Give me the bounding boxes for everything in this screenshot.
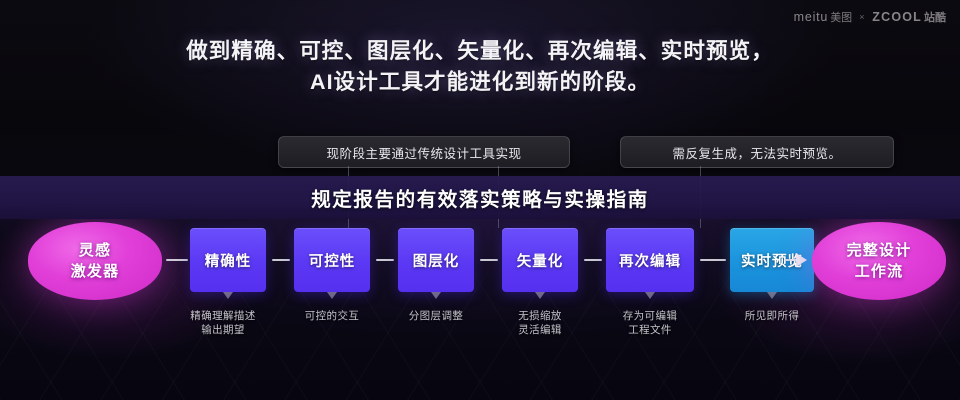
flow-connector-2 <box>376 259 394 261</box>
caption-overlay-band: 规定报告的有效落实策略与实操指南 <box>0 176 960 219</box>
flow-subcaption-3: 分图层调整 <box>390 309 482 323</box>
flow-tick-6 <box>767 292 777 299</box>
note-pill-left: 现阶段主要通过传统设计工具实现 <box>278 136 570 168</box>
flow-subcaption-4-line1: 无损缩放 <box>494 309 586 323</box>
flow-connector-6 <box>784 259 796 261</box>
headline-line-1: 做到精确、可控、图层化、矢量化、再次编辑、实时预览， <box>186 39 774 63</box>
slide-canvas: meitu 美图 × ZCOOL 站酷 做到精确、可控、图层化、矢量化、再次编辑… <box>0 0 960 400</box>
flow-node-end-line1: 完整设计 <box>847 240 912 261</box>
flow-subcaption-2-line1: 可控的交互 <box>286 309 378 323</box>
flow-connector-5 <box>700 259 726 261</box>
flow-node-step-5-label: 再次编辑 <box>619 250 681 271</box>
watermark-brand-meitu-latin: meitu <box>794 10 829 24</box>
flow-subcaption-3-line1: 分图层调整 <box>390 309 482 323</box>
flow-tick-4 <box>535 292 545 299</box>
note-pill-right: 需反复生成，无法实时预览。 <box>620 136 894 168</box>
flow-subcaption-4-line2: 灵活编辑 <box>494 323 586 337</box>
watermark-brand-zcool-latin: ZCOOL <box>872 10 922 24</box>
note-pill-left-label: 现阶段主要通过传统设计工具实现 <box>326 143 521 162</box>
flow-tick-3 <box>431 292 441 299</box>
note-pill-right-label: 需反复生成，无法实时预览。 <box>672 143 841 162</box>
flow-node-step-3-label: 图层化 <box>413 250 460 271</box>
flow-node-step-4: 矢量化 <box>502 228 578 292</box>
watermark-brand-zcool-cn: 站酷 <box>924 9 946 25</box>
flow-tick-5 <box>645 292 655 299</box>
flow-subcaption-6-line1: 所见即所得 <box>726 309 818 323</box>
flow-subcaption-5: 存为可编辑 工程文件 <box>604 309 696 337</box>
watermark: meitu 美图 × ZCOOL 站酷 <box>794 9 946 25</box>
flow-node-step-1-label: 精确性 <box>205 250 252 271</box>
flow-node-end: 完整设计 工作流 <box>812 222 946 300</box>
flow-connector-0 <box>166 259 188 261</box>
watermark-separator-icon: × <box>859 12 865 22</box>
caption-overlay-text: 规定报告的有效落实策略与实操指南 <box>311 183 649 212</box>
flow-node-start: 灵感 激发器 <box>28 222 162 300</box>
flow-node-step-1: 精确性 <box>190 228 266 292</box>
flow-connector-1 <box>272 259 290 261</box>
flow-node-step-3: 图层化 <box>398 228 474 292</box>
flow-node-step-5: 再次编辑 <box>606 228 694 292</box>
flow-subcaption-1-line2: 输出期望 <box>176 323 270 337</box>
background-upper <box>0 0 960 200</box>
flow-node-step-2: 可控性 <box>294 228 370 292</box>
flow-subcaption-1-line1: 精确理解描述 <box>176 309 270 323</box>
watermark-brand-meitu-cn: 美图 <box>830 9 852 25</box>
headline: 做到精确、可控、图层化、矢量化、再次编辑、实时预览， AI设计工具才能进化到新的… <box>0 36 960 98</box>
watermark-brand-meitu: meitu 美图 <box>794 9 853 25</box>
flow-connector-4 <box>584 259 602 261</box>
flow-node-end-line2: 工作流 <box>855 261 904 282</box>
flow-node-start-line2: 激发器 <box>71 261 120 282</box>
flow-subcaption-4: 无损缩放 灵活编辑 <box>494 309 586 337</box>
flow-connector-3 <box>480 259 498 261</box>
flow-tick-2 <box>327 292 337 299</box>
flow-arrow-icon <box>796 253 807 267</box>
flow-node-step-4-label: 矢量化 <box>517 250 564 271</box>
headline-line-2: AI设计工具才能进化到新的阶段。 <box>0 67 960 98</box>
flow-subcaption-1: 精确理解描述 输出期望 <box>176 309 270 337</box>
flow-node-start-line1: 灵感 <box>79 240 111 261</box>
watermark-brand-zcool: ZCOOL 站酷 <box>872 9 946 25</box>
flow-tick-1 <box>223 292 233 299</box>
flow-subcaption-5-line2: 工程文件 <box>604 323 696 337</box>
flow-subcaption-6: 所见即所得 <box>726 309 818 323</box>
flow-subcaption-2: 可控的交互 <box>286 309 378 323</box>
flow-node-step-2-label: 可控性 <box>309 250 356 271</box>
flow-subcaption-5-line1: 存为可编辑 <box>604 309 696 323</box>
flow-diagram: 灵感 激发器 精确性 可控性 图层化 矢量化 再次编辑 实时预 <box>0 222 960 302</box>
